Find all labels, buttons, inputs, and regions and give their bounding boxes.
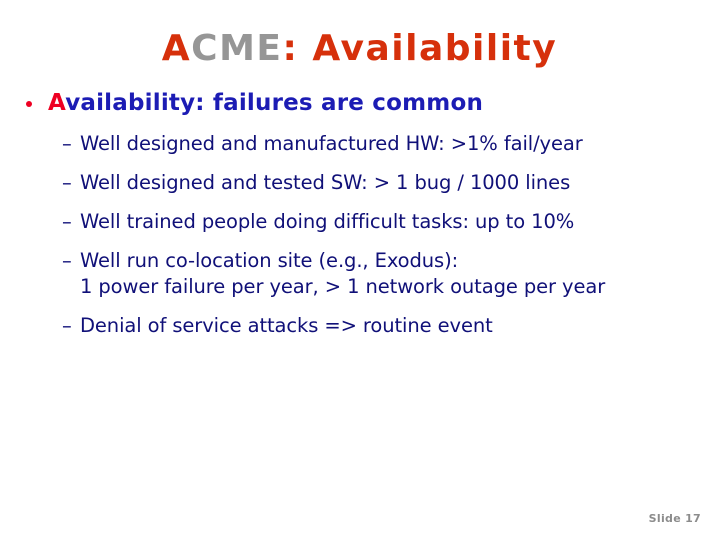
slide-body: Availability: failures are common –Well … [0, 88, 719, 352]
bullet-dot-icon [26, 101, 32, 107]
slide-title: ACME: Availability [0, 27, 719, 71]
dash-icon: – [62, 248, 72, 274]
sub-bullet-sw: –Well designed and tested SW: > 1 bug / … [0, 170, 719, 196]
title-segment-a: A [162, 28, 191, 69]
sub-bullet-dos: –Denial of service attacks => routine ev… [0, 313, 719, 339]
sub-bullet-people-text: Well trained people doing difficult task… [80, 209, 719, 235]
sub-bullet-dos-text: Denial of service attacks => routine eve… [80, 313, 719, 339]
sub-bullet-hw: –Well designed and manufactured HW: >1% … [0, 131, 719, 157]
bullet-level1-cap: A [48, 90, 65, 116]
sub-bullet-hw-text: Well designed and manufactured HW: >1% f… [80, 131, 719, 157]
sub-bullet-list: –Well designed and manufactured HW: >1% … [0, 131, 719, 339]
dash-icon: – [62, 209, 72, 235]
title-segment-cme: CME [191, 28, 282, 69]
sub-bullet-colocation-text: Well run co-location site (e.g., Exodus)… [80, 248, 719, 274]
dash-icon: – [62, 170, 72, 196]
dash-icon: – [62, 131, 72, 157]
sub-bullet-people: –Well trained people doing difficult tas… [0, 209, 719, 235]
bullet-level1: Availability: failures are common [0, 88, 719, 118]
dash-icon: – [62, 313, 72, 339]
slide-number: Slide 17 [649, 512, 701, 525]
sub-bullet-colocation-continuation: 1 power failure per year, > 1 network ou… [80, 274, 719, 300]
slide-canvas: ACME: Availability Availability: failure… [0, 0, 719, 539]
bullet-level1-text: vailability: failures are common [65, 90, 483, 116]
title-segment-availability: : Availability [283, 28, 558, 69]
sub-bullet-sw-text: Well designed and tested SW: > 1 bug / 1… [80, 170, 719, 196]
sub-bullet-colocation: –Well run co-location site (e.g., Exodus… [0, 248, 719, 300]
